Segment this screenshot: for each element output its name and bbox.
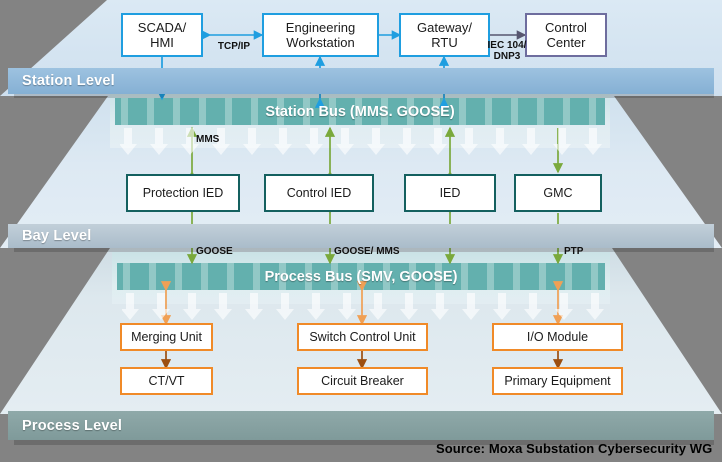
node-merging-unit[interactable]: Merging Unit	[120, 323, 213, 351]
link-label-mms: MMS	[196, 134, 242, 145]
station-bus: Station Bus (MMS. GOOSE)	[115, 98, 605, 125]
node-primary-equipment[interactable]: Primary Equipment	[492, 367, 623, 395]
link-label-iec104-dnp3: IEC 104/ DNP3	[484, 40, 530, 62]
node-scada-hmi[interactable]: SCADA/ HMI	[121, 13, 203, 57]
band-process-level-label: Process Level	[22, 418, 122, 434]
band-process-level: Process Level	[8, 411, 714, 440]
band-bay-level-label: Bay Level	[22, 228, 92, 244]
node-protection-ied[interactable]: Protection IED	[126, 174, 240, 212]
node-engineering-workstation[interactable]: Engineering Workstation	[262, 13, 379, 57]
link-label-ptp: PTP	[564, 246, 596, 257]
process-bus: Process Bus (SMV, GOOSE)	[117, 263, 605, 290]
band-station-level-label: Station Level	[22, 73, 115, 89]
node-gmc[interactable]: GMC	[514, 174, 602, 212]
band-station-level: Station Level	[8, 68, 714, 94]
node-switch-control-unit[interactable]: Switch Control Unit	[297, 323, 428, 351]
process-bus-label: Process Bus (SMV, GOOSE)	[265, 269, 458, 285]
node-gateway-rtu[interactable]: Gateway/ RTU	[399, 13, 490, 57]
link-label-goose-mms: GOOSE/ MMS	[334, 246, 420, 257]
source-credit: Source: Moxa Substation Cybersecurity WG	[436, 441, 712, 456]
node-control-ied[interactable]: Control IED	[264, 174, 374, 212]
link-label-tcp-ip: TCP/IP	[206, 41, 262, 52]
station-bus-label: Station Bus (MMS. GOOSE)	[265, 104, 454, 120]
node-io-module[interactable]: I/O Module	[492, 323, 623, 351]
node-control-center[interactable]: Control Center	[525, 13, 607, 57]
band-bay-level: Bay Level	[8, 224, 714, 248]
link-label-goose: GOOSE	[196, 246, 250, 257]
node-ct-vt[interactable]: CT/VT	[120, 367, 213, 395]
diagram-canvas: Station Bus (MMS. GOOSE) Process Bus (SM…	[0, 0, 722, 462]
node-circuit-breaker[interactable]: Circuit Breaker	[297, 367, 428, 395]
node-ied[interactable]: IED	[404, 174, 496, 212]
